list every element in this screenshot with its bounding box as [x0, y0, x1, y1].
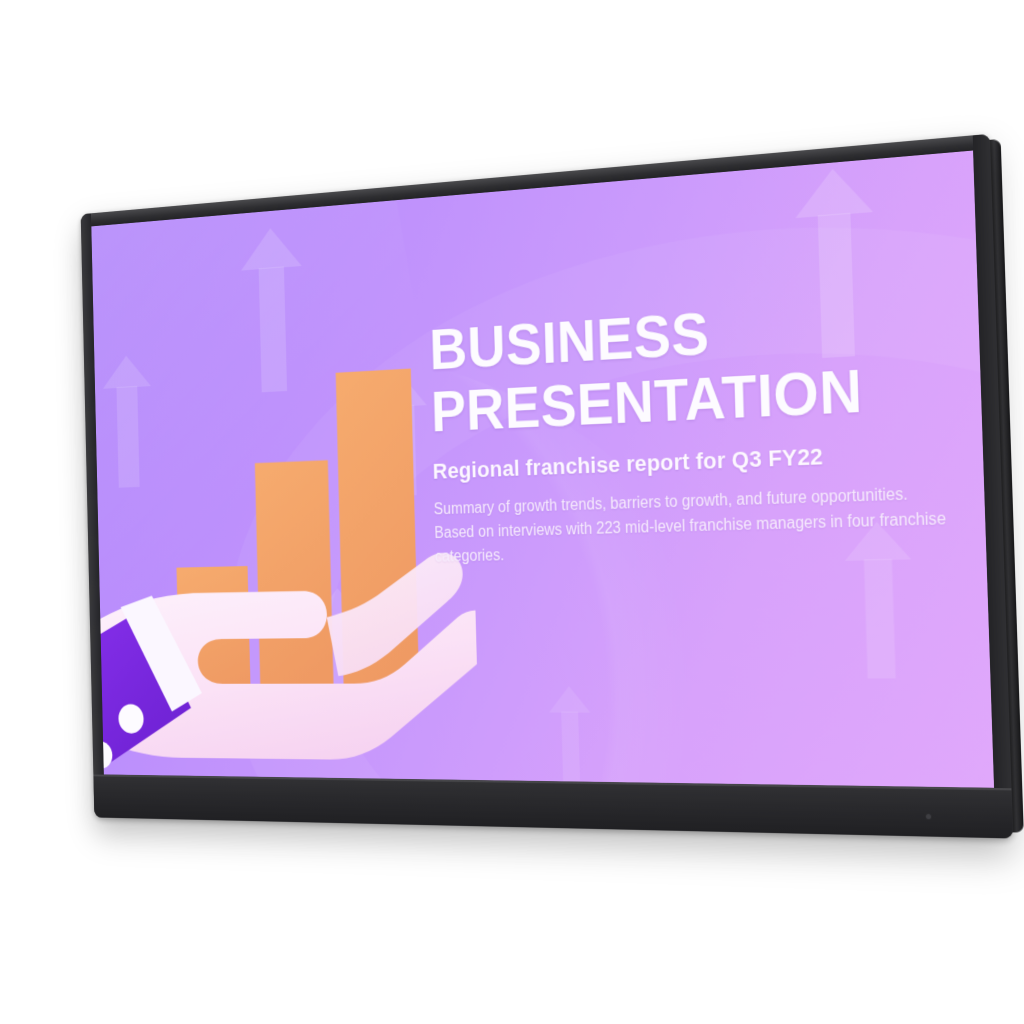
hand-holding-growth-bars-illustration [91, 282, 480, 786]
arrow-up-lower-right-icon [844, 521, 916, 682]
slide-text-block: BUSINESS PRESENTATION Regional franchise… [429, 285, 971, 569]
monitor-perspective-wrapper: BUSINESS PRESENTATION Regional franchise… [0, 0, 1024, 1024]
slide-title: BUSINESS PRESENTATION [429, 285, 967, 444]
slide-subtitle: Regional franchise report for Q3 FY22 [432, 438, 968, 485]
power-led-icon [926, 814, 931, 819]
screenshot-canvas: BUSINESS PRESENTATION Regional franchise… [0, 0, 1024, 1024]
monitor-screen[interactable]: BUSINESS PRESENTATION Regional franchise… [91, 151, 994, 788]
presentation-slide: BUSINESS PRESENTATION Regional franchise… [91, 151, 994, 788]
arrow-up-bottom-icon [548, 686, 592, 784]
monitor-device: BUSINESS PRESENTATION Regional franchise… [81, 134, 1013, 838]
slide-body-text: Summary of growth trends, barriers to gr… [434, 482, 948, 569]
arrow-up-right-icon [794, 165, 878, 360]
slide-title-line-1: BUSINESS [429, 300, 710, 382]
